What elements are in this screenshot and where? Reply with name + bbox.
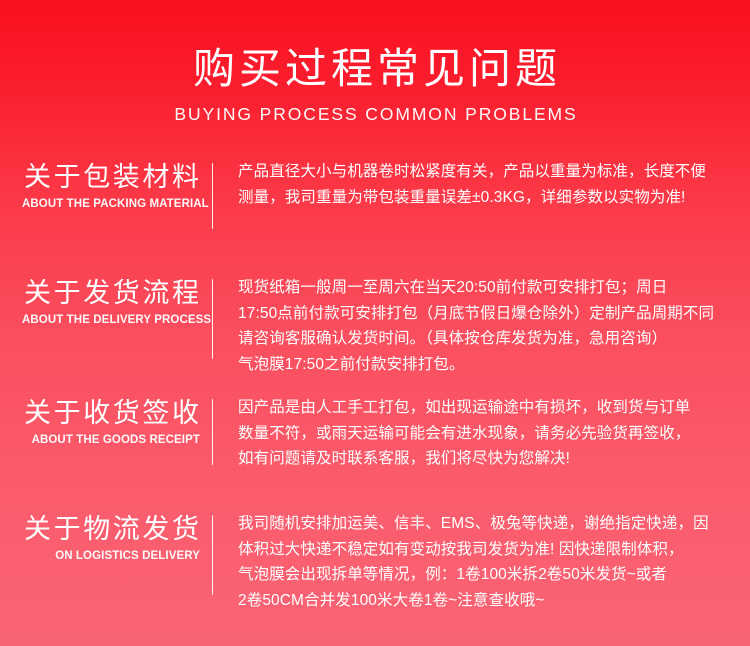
vertical-divider [212, 515, 213, 595]
faq-section-goods-receipt: 关于收货签收 ABOUT THE GOODS RECEIPT 因产品是由人工手工… [0, 393, 750, 509]
faq-section-logistics-delivery: 关于物流发货 ON LOGISTICS DELIVERY 我司随机安排加运美、信… [0, 509, 750, 629]
section-label-en: ABOUT THE GOODS RECEIPT [22, 433, 200, 448]
section-label-cn: 关于物流发货 [22, 513, 200, 546]
faq-banner: 购买过程常见问题 BUYING PROCESS COMMON PROBLEMS … [0, 0, 750, 646]
body-line: 测量，我司重量为带包装重量误差±0.3KG，详细参数以实物为准! [238, 185, 738, 211]
body-line: 产品直径大小与机器卷时松紧度有关，产品以重量为标准，长度不便 [238, 159, 738, 185]
vertical-divider [212, 279, 213, 359]
section-label-en: ABOUT THE PACKING MATERIAL [22, 197, 200, 212]
section-label-cn: 关于发货流程 [22, 277, 200, 310]
section-label-block: 关于包装材料 ABOUT THE PACKING MATERIAL [0, 157, 212, 212]
section-body: 因产品是由人工手工打包，如出现运输途中有损坏，收到货与订单 数量不符，或雨天运输… [213, 393, 750, 472]
faq-section-packing-material: 关于包装材料 ABOUT THE PACKING MATERIAL 产品直径大小… [0, 157, 750, 273]
body-line: 数量不符，或雨天运输可能会有进水现象，请务必先验货再签收， [238, 421, 738, 447]
body-line: 我司随机安排加运美、信丰、EMS、极兔等快递，谢绝指定快递，因 [238, 511, 738, 537]
body-line: 气泡膜会出现拆单等情况，例：1卷100米拆2卷50米发货~或者 [238, 562, 738, 588]
body-line: 因产品是由人工手工打包，如出现运输途中有损坏，收到货与订单 [238, 395, 738, 421]
page-subtitle: BUYING PROCESS COMMON PROBLEMS [0, 102, 750, 126]
faq-section-list: 关于包装材料 ABOUT THE PACKING MATERIAL 产品直径大小… [0, 157, 750, 629]
vertical-divider [212, 399, 213, 465]
section-label-cn: 关于收货签收 [22, 397, 200, 430]
section-body: 现货纸箱一般周一至周六在当天20:50前付款可安排打包；周日 17:50点前付款… [213, 273, 750, 377]
section-body: 产品直径大小与机器卷时松紧度有关，产品以重量为标准，长度不便 测量，我司重量为带… [213, 157, 750, 210]
section-label-block: 关于发货流程 ABOUT THE DELIVERY PROCESS [0, 273, 212, 328]
body-line: 气泡膜17:50之前付款安排打包。 [238, 352, 738, 378]
body-line: 如有问题请及时联系客服，我们将尽快为您解决! [238, 446, 738, 472]
vertical-divider [212, 163, 213, 229]
section-label-cn: 关于包装材料 [22, 161, 200, 194]
body-line: 现货纸箱一般周一至周六在当天20:50前付款可安排打包；周日 [238, 275, 738, 301]
section-label-en: ABOUT THE DELIVERY PROCESS [22, 313, 200, 328]
body-line: 2卷50CM合并发100米大卷1卷~注意查收哦~ [238, 588, 738, 614]
page-header: 购买过程常见问题 BUYING PROCESS COMMON PROBLEMS [0, 0, 750, 126]
faq-section-delivery-process: 关于发货流程 ABOUT THE DELIVERY PROCESS 现货纸箱一般… [0, 273, 750, 393]
section-body: 我司随机安排加运美、信丰、EMS、极兔等快递，谢绝指定快递，因 体积过大快递不稳… [213, 509, 750, 613]
body-line: 体积过大快递不稳定如有变动按我司发货为准! 因快递限制体积， [238, 537, 738, 563]
body-line: 请咨询客服确认发货时间。（具体按仓库发货为准，急用咨询） [238, 326, 738, 352]
page-title: 购买过程常见问题 [0, 44, 750, 94]
section-label-en: ON LOGISTICS DELIVERY [22, 549, 200, 564]
section-label-block: 关于收货签收 ABOUT THE GOODS RECEIPT [0, 393, 212, 448]
section-label-block: 关于物流发货 ON LOGISTICS DELIVERY [0, 509, 212, 564]
body-line: 17:50点前付款可安排打包（月底节假日爆仓除外）定制产品周期不同 [238, 301, 738, 327]
